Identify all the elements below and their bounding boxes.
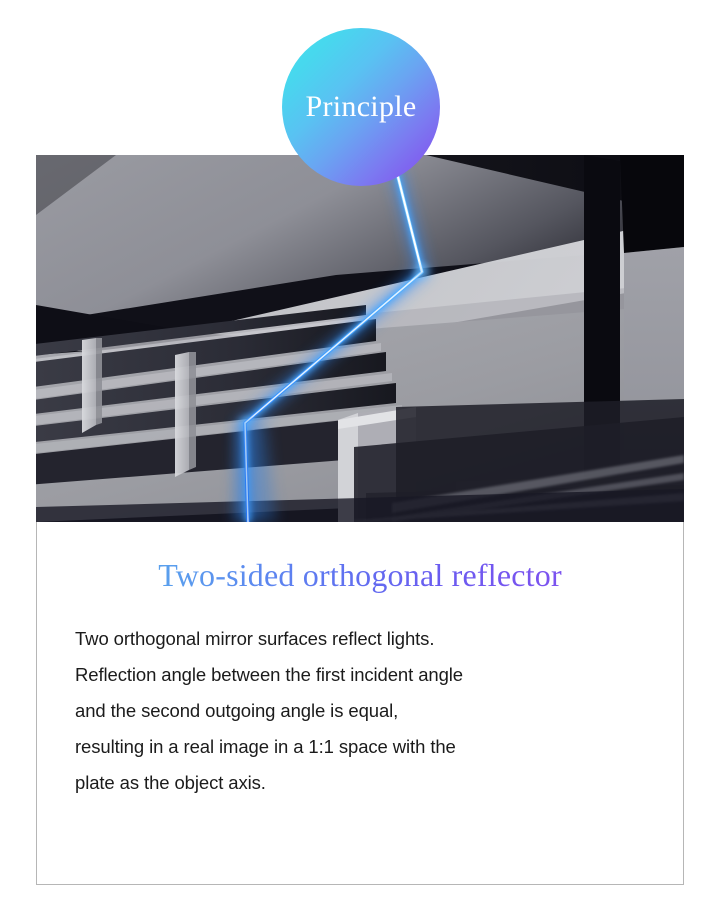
body-line: Reflection angle between the first incid… bbox=[75, 657, 645, 693]
card-body: Two orthogonal mirror surfaces reflect l… bbox=[37, 593, 683, 801]
slide-root: Principle Two-sided orthogonal reflector… bbox=[0, 0, 714, 912]
body-line: resulting in a real image in a 1:1 space… bbox=[75, 729, 645, 765]
description-card: Two-sided orthogonal reflector Two ortho… bbox=[36, 522, 684, 885]
scene-geometry bbox=[36, 155, 684, 522]
illustration-panel bbox=[36, 155, 684, 522]
principle-badge-label: Principle bbox=[305, 92, 416, 122]
right-upper-dark-strip bbox=[620, 155, 684, 253]
body-line: plate as the object axis. bbox=[75, 765, 645, 801]
body-line: Two orthogonal mirror surfaces reflect l… bbox=[75, 621, 645, 657]
illustration-scene bbox=[36, 155, 684, 522]
principle-badge[interactable]: Principle bbox=[282, 28, 440, 186]
card-title: Two-sided orthogonal reflector bbox=[37, 522, 683, 593]
body-line: and the second outgoing angle is equal, bbox=[75, 693, 645, 729]
